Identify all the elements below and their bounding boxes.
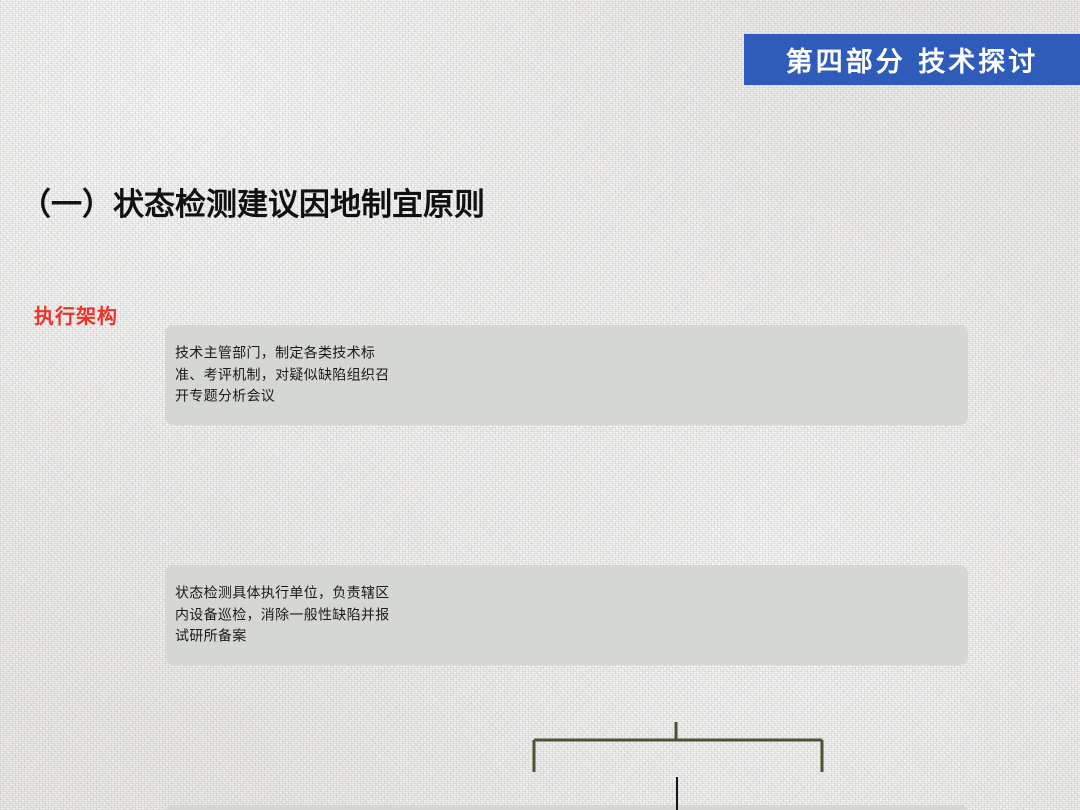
connector-bracket-icon <box>522 722 834 772</box>
diagram-band-3: 协助局制定各类技术标准、考评机制，对疑似缺陷进行确诊。 <box>165 805 968 810</box>
connector-spine-icon <box>676 777 678 810</box>
diagram-band-2: 状态检测具体执行单位，负责辖区内设备巡检，消除一般性缺陷并报试研所备案 <box>165 565 968 665</box>
diagram-band-1-description: 技术主管部门，制定各类技术标准、考评机制，对疑似缺陷组织召开专题分析会议 <box>175 342 400 407</box>
diagram-band-2-description: 状态检测具体执行单位，负责辖区内设备巡检，消除一般性缺陷并报试研所备案 <box>175 582 400 647</box>
diagram-band-1: 技术主管部门，制定各类技术标准、考评机制，对疑似缺陷组织召开专题分析会议 <box>165 325 968 425</box>
section-banner: 第四部分 技术探讨 <box>744 34 1080 85</box>
slide-canvas: 第四部分 技术探讨 （一）状态检测建议因地制宜原则 执行架构 技术主管部门，制定… <box>0 0 1080 810</box>
section-banner-text: 第四部分 技术探讨 <box>786 40 1038 79</box>
page-title: （一）状态检测建议因地制宜原则 <box>20 179 1080 224</box>
